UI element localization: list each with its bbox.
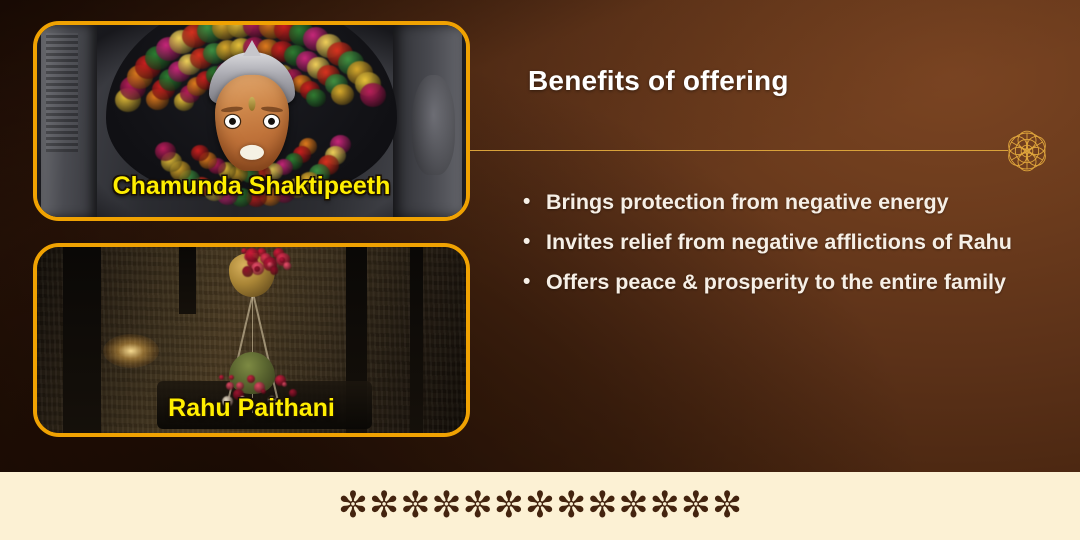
deity-face [215, 75, 289, 171]
caption-rahu: Rahu Paithani [37, 394, 466, 423]
footer-flower-glyph: ✼ [369, 488, 399, 524]
gold-divider-rule [470, 150, 1008, 151]
footer-ornament-row: ✼✼✼✼✼✼✼✼✼✼✼✼✼ [338, 488, 742, 524]
benefit-item: Invites relief from negative afflictions… [546, 222, 1016, 262]
lingam-flower-petal [236, 382, 244, 390]
slide-root: Chamunda Shaktipeeth Rahu Paithani B [0, 0, 1080, 540]
footer-flower-glyph: ✼ [587, 488, 617, 524]
image-card-chamunda[interactable]: Chamunda Shaktipeeth [33, 21, 470, 221]
footer-flower-glyph: ✼ [650, 488, 680, 524]
footer-flower-glyph: ✼ [463, 488, 493, 524]
image-card-rahu[interactable]: Rahu Paithani [33, 243, 470, 437]
garland-flower [191, 145, 209, 162]
footer-flower-glyph: ✼ [400, 488, 430, 524]
footer-flower-glyph: ✼ [712, 488, 742, 524]
footer-flower-glyph: ✼ [494, 488, 524, 524]
lingam-flower-petal [229, 375, 234, 380]
footer-flower-glyph: ✼ [556, 488, 586, 524]
page-title: Benefits of offering [528, 65, 789, 97]
garland-flower [331, 84, 354, 105]
lingam-flower-petal [219, 375, 224, 380]
kalash-flower-petal [245, 248, 259, 262]
deity-mouth [240, 145, 264, 160]
footer-flower-glyph: ✼ [338, 488, 368, 524]
footer-flower-glyph: ✼ [681, 488, 711, 524]
garland-flower [360, 83, 386, 107]
deity-brow-right [260, 106, 282, 113]
deity-eye-right [264, 115, 279, 128]
oil-lamp-glow [103, 334, 159, 368]
mandala-svg [1000, 124, 1054, 178]
footer-band: ✼✼✼✼✼✼✼✼✼✼✼✼✼ [0, 472, 1080, 540]
footer-flower-glyph: ✼ [525, 488, 555, 524]
lingam-flower-petal [282, 382, 287, 387]
mandala-rosette-icon [1000, 124, 1054, 178]
deity-brow-left [220, 106, 242, 113]
deity-eye-left [225, 115, 240, 128]
benefit-item: Offers peace & prosperity to the entire … [546, 262, 1016, 302]
lingam-flower-petal [247, 375, 255, 383]
lingam-flower-petal [226, 382, 234, 390]
footer-flower-glyph: ✼ [431, 488, 461, 524]
kalash-flower-petal [270, 266, 279, 275]
kalash-flower-petal [242, 266, 253, 277]
benefits-list: Brings protection from negative energyIn… [518, 182, 1016, 302]
kalash-flower-petal [254, 266, 260, 272]
kalash-flower-petal [283, 262, 292, 271]
kalash-flowers [239, 247, 291, 277]
garland-flower [306, 89, 326, 107]
deity-tilak [248, 97, 255, 111]
garland-flower [155, 142, 176, 161]
caption-chamunda: Chamunda Shaktipeeth [37, 172, 466, 201]
benefit-item: Brings protection from negative energy [546, 182, 1016, 222]
footer-flower-glyph: ✼ [618, 488, 648, 524]
cave-crevice-2 [179, 247, 196, 314]
